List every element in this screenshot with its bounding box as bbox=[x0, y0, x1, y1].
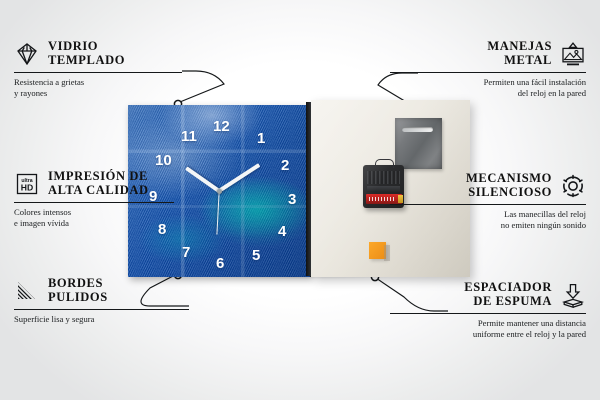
feature-divider bbox=[390, 72, 586, 73]
feature-divider bbox=[390, 313, 586, 314]
feature-header: MANEJAS METAL bbox=[390, 40, 586, 67]
feature-header: ESPACIADOR DE ESPUMA bbox=[390, 281, 586, 308]
picture-frame-hanger-icon bbox=[560, 41, 586, 67]
clock-numeral-10: 10 bbox=[155, 153, 172, 168]
feature-bordes-pulidos: BORDES PULIDOS Superficie lisa y segura bbox=[14, 277, 210, 325]
feature-subtitle: Superficie lisa y segura bbox=[14, 314, 210, 325]
feature-divider bbox=[14, 309, 189, 310]
feature-title: BORDES PULIDOS bbox=[48, 277, 108, 304]
clock-numeral-12: 12 bbox=[213, 119, 230, 134]
feature-espaciador-de-espuma: ESPACIADOR DE ESPUMA Permite mantener un… bbox=[390, 281, 586, 339]
clock-numeral-2: 2 bbox=[281, 158, 289, 173]
feature-header: MECANISMO SILENCIOSO bbox=[390, 172, 586, 199]
feature-divider bbox=[14, 202, 174, 203]
infographic-canvas: 12 1 2 3 4 5 6 7 8 9 10 11 bbox=[0, 0, 600, 400]
clock-numeral-3: 3 bbox=[288, 192, 296, 207]
clock-numeral-1: 1 bbox=[257, 131, 265, 146]
feature-title: ESPACIADOR DE ESPUMA bbox=[464, 281, 552, 308]
feature-subtitle: Resistencia a grietas y rayones bbox=[14, 77, 204, 98]
feature-subtitle: Colores intensos e imagen vívida bbox=[14, 207, 210, 228]
feature-title: MANEJAS METAL bbox=[487, 40, 552, 67]
feature-vidrio-templado: VIDRIO TEMPLADO Resistencia a grietas y … bbox=[14, 40, 204, 98]
clock-numeral-11: 11 bbox=[181, 129, 197, 144]
gear-icon bbox=[560, 173, 586, 199]
feature-subtitle: Las manecillas del reloj no emiten ningú… bbox=[390, 209, 586, 230]
svg-text:HD: HD bbox=[21, 182, 33, 192]
clock-numeral-5: 5 bbox=[252, 248, 260, 263]
feature-divider bbox=[14, 72, 182, 73]
feature-header: ultra HD IMPRESIÓN DE ALTA CALIDAD bbox=[14, 170, 210, 197]
diamond-icon bbox=[14, 41, 40, 67]
feature-subtitle: Permiten una fácil instalación del reloj… bbox=[390, 77, 586, 98]
clock-numeral-6: 6 bbox=[216, 256, 224, 271]
feature-divider bbox=[390, 204, 586, 205]
clock-numeral-7: 7 bbox=[182, 245, 190, 260]
foam-spacer-arrow-icon bbox=[560, 282, 586, 308]
clock-center-pin bbox=[217, 189, 222, 194]
ultra-hd-icon: ultra HD bbox=[14, 171, 40, 197]
feature-header: VIDRIO TEMPLADO bbox=[14, 40, 204, 67]
feature-title: IMPRESIÓN DE ALTA CALIDAD bbox=[48, 170, 149, 197]
polished-edges-icon bbox=[14, 278, 40, 304]
feature-mecanismo-silencioso: MECANISMO SILENCIOSO Las manecillas del … bbox=[390, 172, 586, 230]
clock-numeral-4: 4 bbox=[278, 224, 286, 239]
feature-impresion-alta-calidad: ultra HD IMPRESIÓN DE ALTA CALIDAD Color… bbox=[14, 170, 210, 228]
feature-manejas-metal: MANEJAS METAL Permiten una fácil instala… bbox=[390, 40, 586, 98]
feature-title: VIDRIO TEMPLADO bbox=[48, 40, 125, 67]
feature-subtitle: Permite mantener una distancia uniforme … bbox=[390, 318, 586, 339]
feature-title: MECANISMO SILENCIOSO bbox=[466, 172, 552, 199]
feature-header: BORDES PULIDOS bbox=[14, 277, 210, 304]
